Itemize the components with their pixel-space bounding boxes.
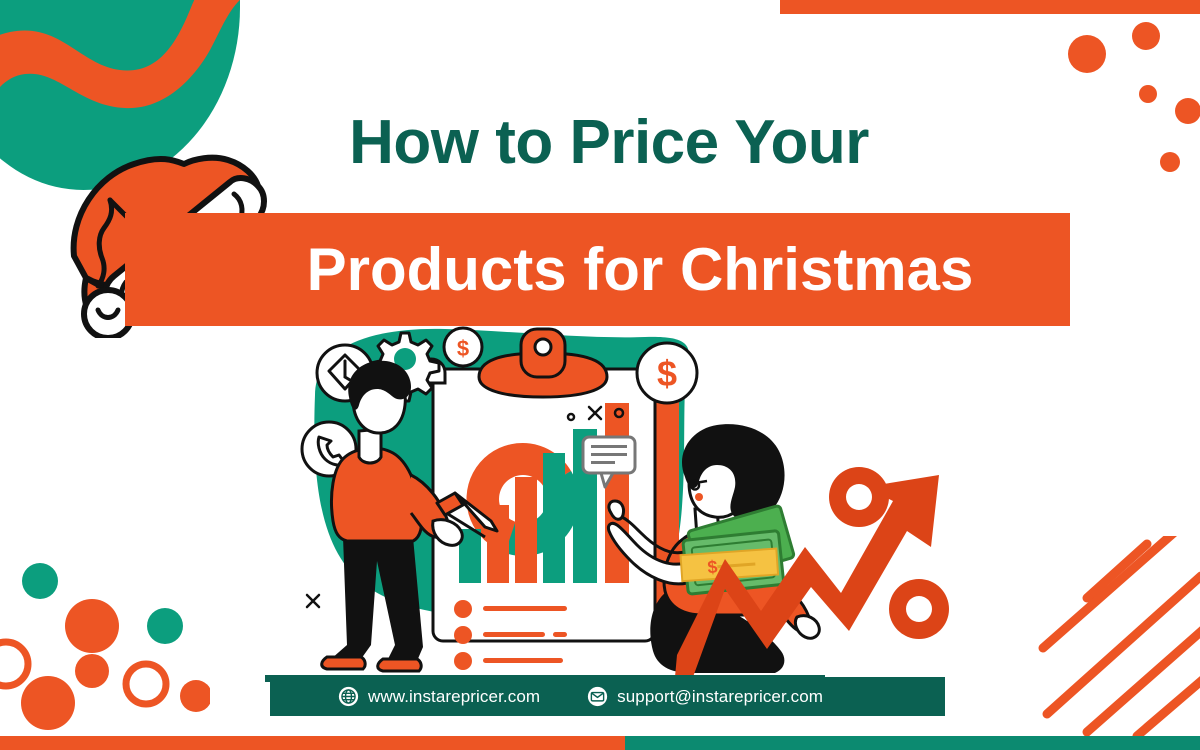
green-bottom-bar xyxy=(625,736,1200,750)
decorative-dot-cluster-top-right xyxy=(1030,14,1200,204)
svg-text:$: $ xyxy=(457,336,469,361)
poster-canvas: How to Price Your Products for Christmas xyxy=(0,0,1200,750)
footer-contact-bar: www.instarepricer.com support@instarepri… xyxy=(270,677,945,716)
svg-text:$: $ xyxy=(707,557,718,578)
envelope-icon xyxy=(587,686,608,707)
page-title: How to Price Your xyxy=(0,112,1200,174)
globe-icon xyxy=(338,686,359,707)
footer-email[interactable]: support@instarepricer.com xyxy=(587,686,823,707)
title-band-label: Products for Christmas xyxy=(222,240,974,300)
dollar-badge-icon: $ xyxy=(637,343,697,403)
diagonal-stripes xyxy=(1025,536,1200,736)
title-band: Products for Christmas xyxy=(125,213,1070,326)
business-analytics-illustration: $ $ xyxy=(255,325,995,690)
footer-website-label: www.instarepricer.com xyxy=(368,687,540,707)
orange-top-bar xyxy=(780,0,1200,14)
footer-website[interactable]: www.instarepricer.com xyxy=(338,686,540,707)
orange-bottom-bar xyxy=(0,736,625,750)
dollar-coin-icon: $ xyxy=(444,328,482,366)
decorative-dot-cluster-bottom-left xyxy=(0,546,210,736)
footer-email-label: support@instarepricer.com xyxy=(617,687,823,707)
svg-text:$: $ xyxy=(657,353,677,394)
